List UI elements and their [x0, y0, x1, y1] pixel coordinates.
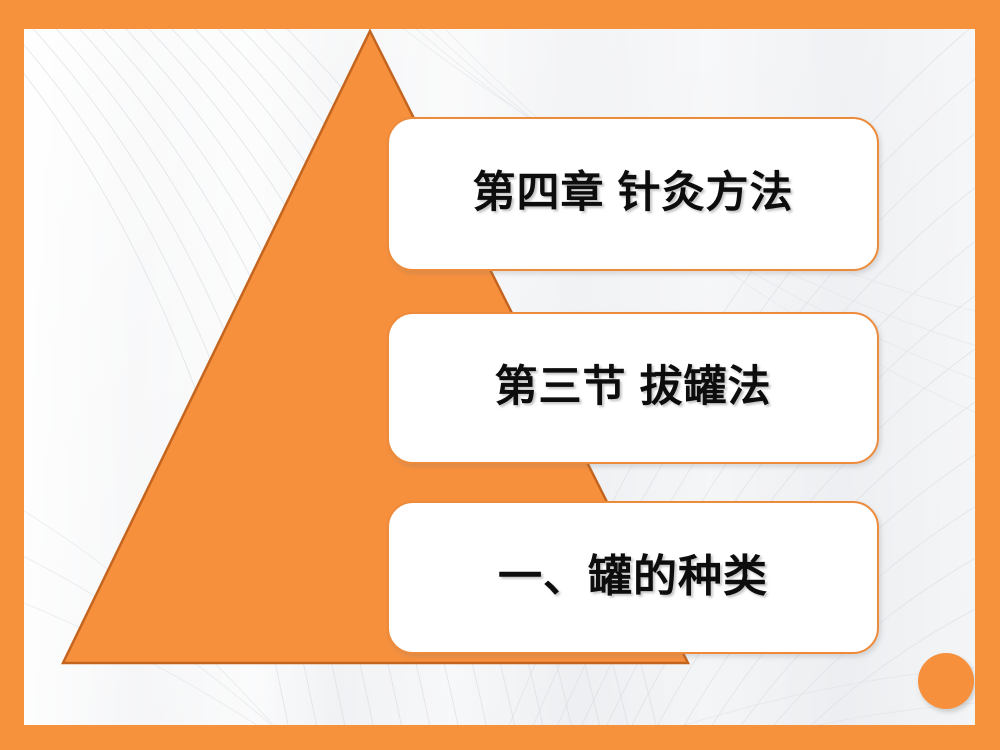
slide-inner-background: 第四章 针灸方法 第三节 拔罐法 一、罐的种类 [24, 29, 975, 725]
topic-title-label: 一、罐的种类 [498, 553, 768, 601]
title-box-chapter[interactable]: 第四章 针灸方法 [387, 117, 879, 271]
title-box-topic[interactable]: 一、罐的种类 [387, 501, 879, 654]
slide-canvas: 第四章 针灸方法 第三节 拔罐法 一、罐的种类 [0, 0, 1000, 750]
orange-circle-accent [918, 653, 974, 709]
title-box-section[interactable]: 第三节 拔罐法 [387, 312, 879, 464]
section-title-label: 第三节 拔罐法 [495, 364, 772, 411]
chapter-title-label: 第四章 针灸方法 [473, 170, 794, 217]
